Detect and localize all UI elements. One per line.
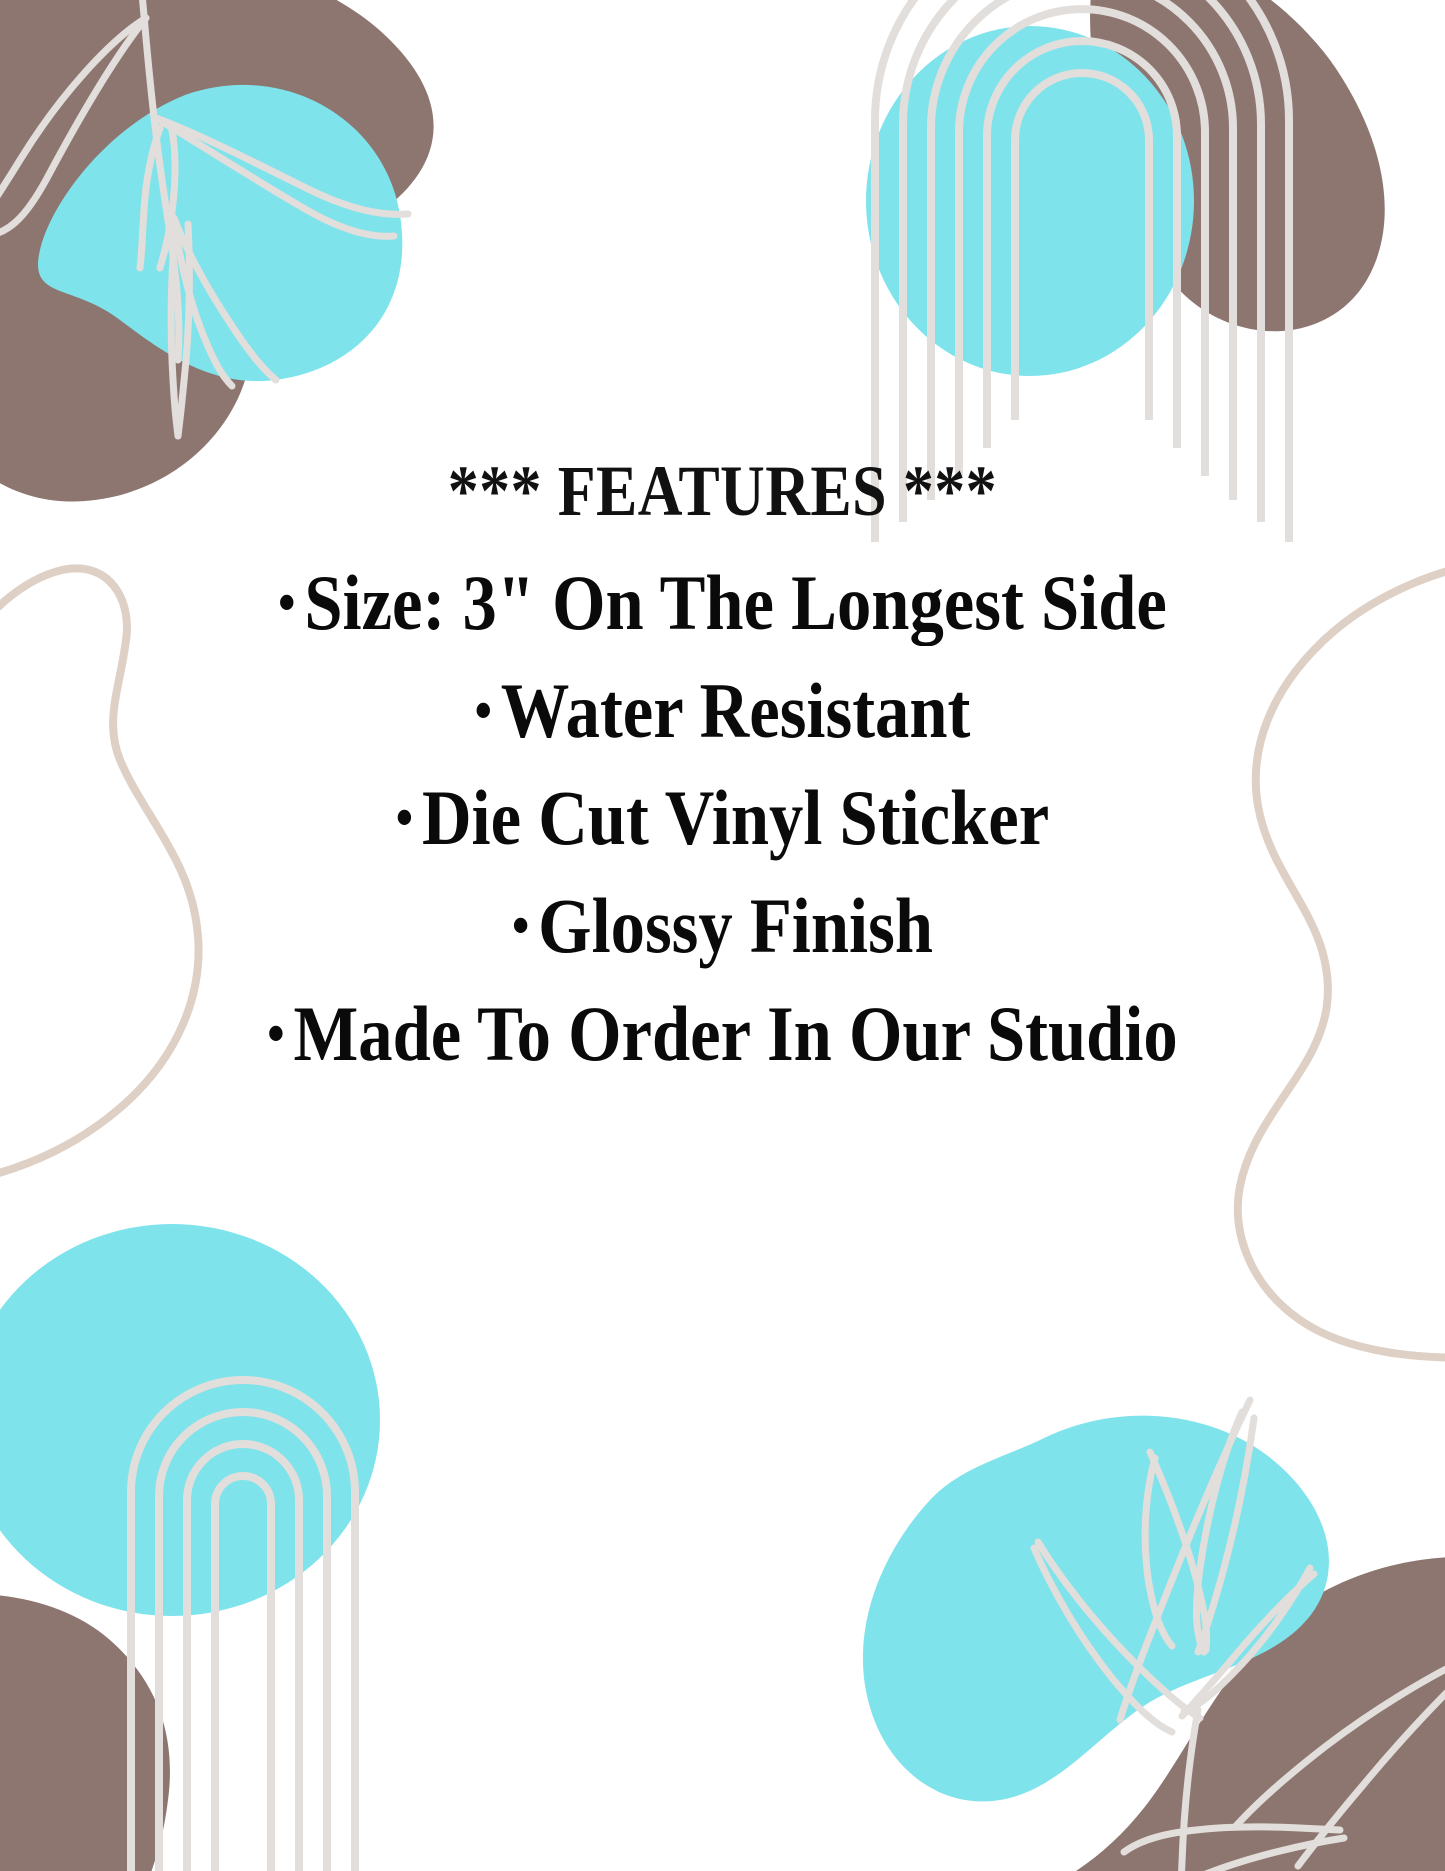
bullet-icon: • — [267, 1006, 284, 1062]
list-item-label: Size: 3" On The Longest Side — [304, 559, 1167, 646]
list-item-label: Glossy Finish — [538, 882, 933, 969]
cyan-blob-bottom-right — [863, 1416, 1329, 1802]
feature-list: •Size: 3" On The Longest Side •Water Res… — [0, 549, 1445, 1087]
brown-blob-top-right — [1090, 0, 1445, 331]
brown-blob-bottom-right — [1020, 1557, 1445, 1871]
bullet-icon: • — [278, 575, 295, 631]
eucalyptus-branch-icon-top-left — [0, 0, 408, 436]
cyan-blob-top-left — [38, 85, 402, 381]
nested-arch-icon-bottom-left — [131, 1380, 355, 1871]
list-item: •Water Resistant — [87, 657, 1359, 765]
list-item: •Size: 3" On The Longest Side — [87, 549, 1359, 657]
cyan-blob-bottom-left — [0, 1224, 380, 1616]
list-item-label: Made To Order In Our Studio — [293, 990, 1177, 1077]
bullet-icon: • — [512, 898, 529, 954]
eucalyptus-branch-icon-bottom-right — [1034, 1400, 1445, 1871]
bullet-icon: • — [475, 683, 492, 739]
list-item: •Die Cut Vinyl Sticker — [87, 764, 1359, 872]
cyan-blob-top-right — [866, 26, 1194, 376]
features-block: *** FEATURES *** •Size: 3" On The Longes… — [0, 455, 1445, 1087]
bullet-icon: • — [396, 790, 413, 846]
poster-canvas: *** FEATURES *** •Size: 3" On The Longes… — [0, 0, 1445, 1871]
list-item: •Glossy Finish — [87, 872, 1359, 980]
page-title: *** FEATURES *** — [448, 455, 997, 527]
list-item-label: Die Cut Vinyl Sticker — [422, 774, 1049, 861]
brown-blob-top-left — [0, 0, 434, 502]
brown-blob-bottom-left — [0, 1594, 170, 1871]
list-item-label: Water Resistant — [501, 667, 971, 754]
list-item: •Made To Order In Our Studio — [87, 980, 1359, 1088]
